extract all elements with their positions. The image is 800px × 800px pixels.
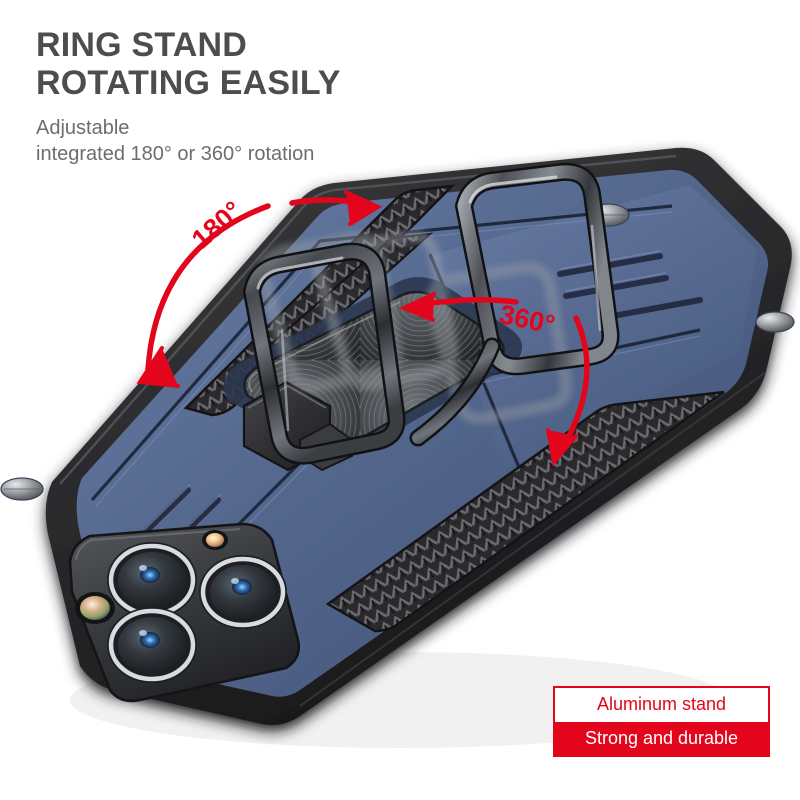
badge-line-1: Aluminum stand bbox=[555, 688, 768, 722]
headline-block: RING STAND ROTATING EASILY Adjustable in… bbox=[36, 26, 556, 167]
product-marketing-image: 180° 360° RING STAND ROTATING EASILY Adj… bbox=[0, 0, 800, 800]
camera-lens-2 bbox=[199, 555, 287, 629]
title-line-2: ROTATING EASILY bbox=[36, 64, 556, 102]
title-line-1: RING STAND bbox=[36, 26, 556, 64]
camera-lens-1 bbox=[107, 542, 197, 618]
badge-line-2: Strong and durable bbox=[555, 722, 768, 756]
subtitle-block: Adjustable integrated 180° or 360° rotat… bbox=[36, 116, 556, 167]
page-title: RING STAND ROTATING EASILY bbox=[36, 26, 556, 102]
camera-sensor bbox=[75, 592, 115, 624]
camera-flash bbox=[202, 530, 228, 550]
subtitle-line-1: Adjustable bbox=[36, 116, 556, 142]
feature-callout-badge: Aluminum stand Strong and durable bbox=[553, 686, 770, 757]
subtitle-line-2: integrated 180° or 360° rotation bbox=[36, 142, 556, 168]
camera-lens-3 bbox=[107, 607, 197, 683]
